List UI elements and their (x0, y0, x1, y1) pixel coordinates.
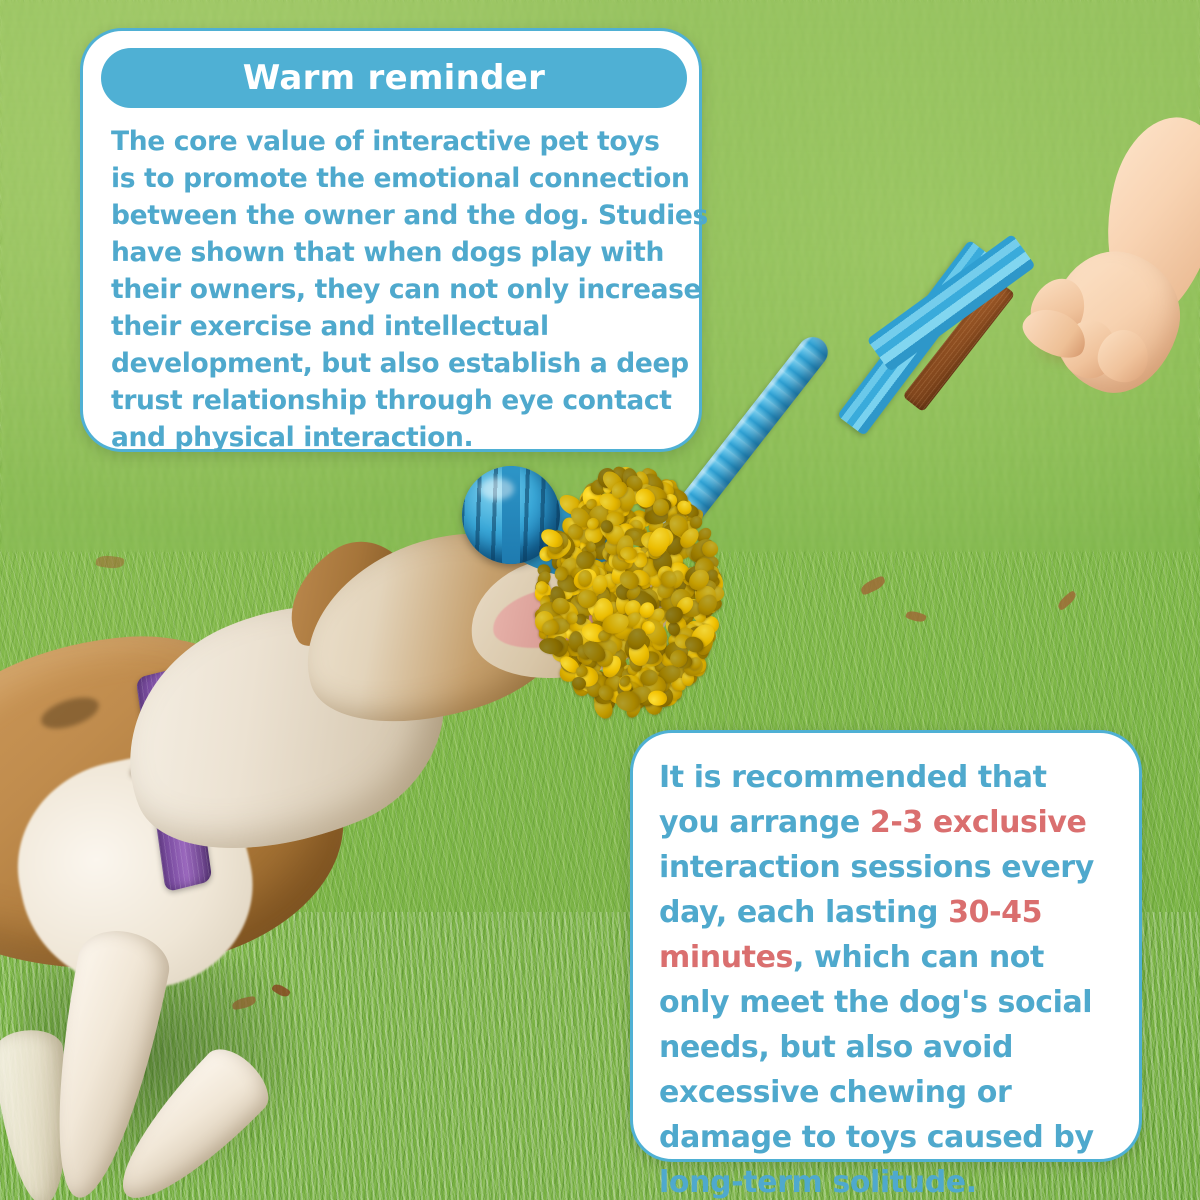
recommendation-line-4: day, each lasting 30-45 (659, 890, 1129, 935)
mop-strand (653, 499, 669, 516)
warm-reminder-line-9: and physical interaction. (111, 419, 691, 456)
poster-canvas: Warm reminder The core value of interact… (0, 0, 1200, 1200)
mop-strand (566, 612, 577, 625)
warm-reminder-line-6: their exercise and intellectual (111, 308, 691, 345)
warm-reminder-body-text: The core value of interactive pet toysis… (111, 123, 691, 456)
toy-ball-highlight (480, 478, 514, 500)
recommendation-line-2: you arrange 2-3 exclusive (659, 800, 1129, 845)
recommendation-line-3: interaction sessions every (659, 845, 1129, 890)
recommendation-line-5: minutes, which can not (659, 935, 1129, 980)
warm-reminder-line-1: The core value of interactive pet toys (111, 123, 691, 160)
highlight-sessions-count: 2-3 exclusive (870, 805, 1087, 840)
warm-reminder-line-4: have shown that when dogs play with (111, 234, 691, 271)
recommendation-line-6: only meet the dog's social (659, 980, 1129, 1025)
recommendation-line-7: needs, but also avoid (659, 1025, 1129, 1070)
warm-reminder-line-8: trust relationship through eye contact (111, 382, 691, 419)
toy-mop-fringe (546, 470, 716, 710)
recommendation-line-1: It is recommended that (659, 755, 1129, 800)
recommendation-line-8: excessive chewing or (659, 1070, 1129, 1115)
warm-reminder-badge: Warm reminder (101, 48, 687, 108)
mop-strand (660, 570, 677, 588)
line-5-text: , which can not (793, 940, 1044, 975)
warm-reminder-card: Warm reminder The core value of interact… (80, 28, 702, 452)
recommendation-body-text: It is recommended that you arrange 2-3 e… (659, 755, 1129, 1200)
line-2-text: you arrange (659, 805, 870, 840)
recommendation-line-10: long-term solitude. (659, 1160, 1129, 1200)
warm-reminder-line-2: is to promote the emotional connection (111, 160, 691, 197)
recommendation-line-9: damage to toys caused by (659, 1115, 1129, 1160)
highlight-duration-range: 30-45 (948, 895, 1042, 930)
recommendation-card: It is recommended that you arrange 2-3 e… (630, 730, 1142, 1162)
warm-reminder-line-5: their owners, they can not only increase (111, 271, 691, 308)
warm-reminder-line-3: between the owner and the dog. Studies (111, 197, 691, 234)
warm-reminder-line-7: development, but also establish a deep (111, 345, 691, 382)
highlight-duration-unit: minutes (659, 940, 793, 975)
warm-reminder-badge-label: Warm reminder (243, 58, 545, 98)
line-4-text: day, each lasting (659, 895, 948, 930)
